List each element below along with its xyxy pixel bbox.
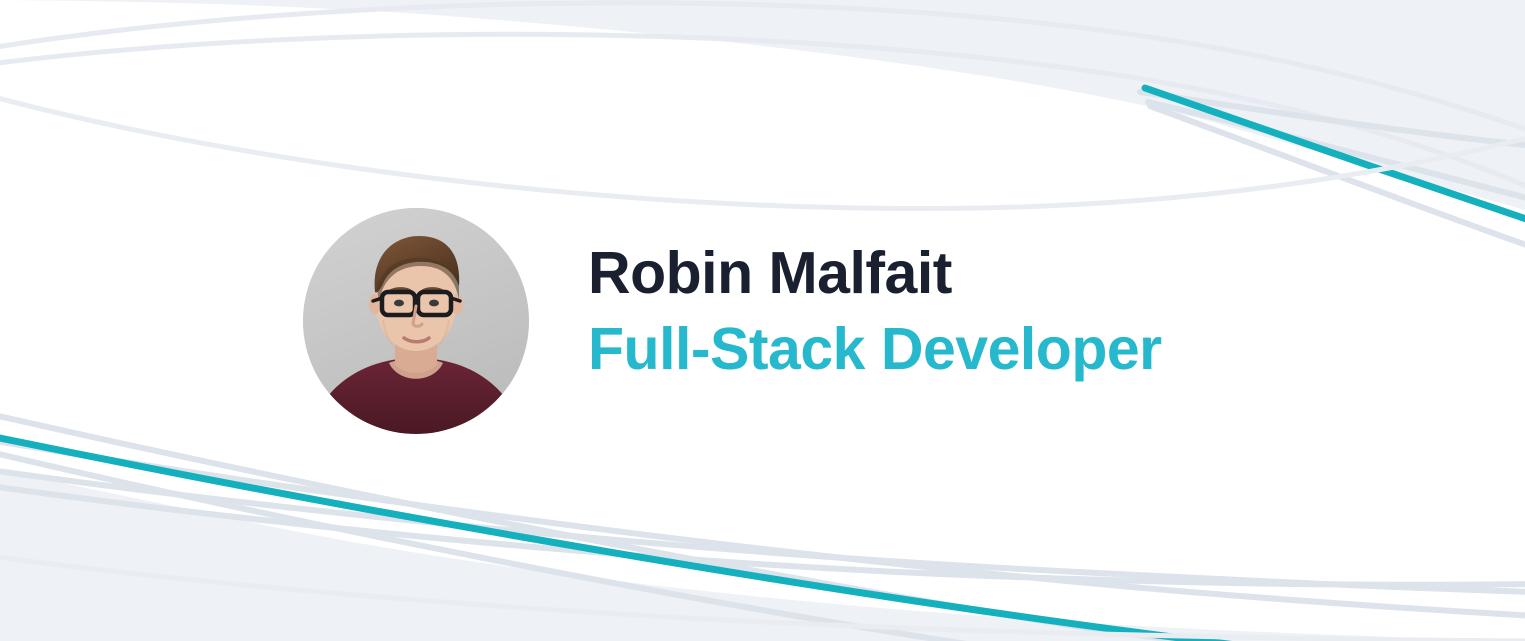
profile-banner: Robin Malfait Full-Stack Developer	[0, 0, 1525, 641]
avatar-portrait-illustration	[303, 208, 529, 434]
avatar	[303, 208, 529, 434]
page-title: Robin Malfait	[588, 236, 1348, 310]
person-role: Full-Stack Developer	[588, 310, 1348, 388]
identity-block: Robin Malfait Full-Stack Developer	[588, 236, 1348, 388]
banner-content: Robin Malfait Full-Stack Developer	[0, 0, 1525, 641]
